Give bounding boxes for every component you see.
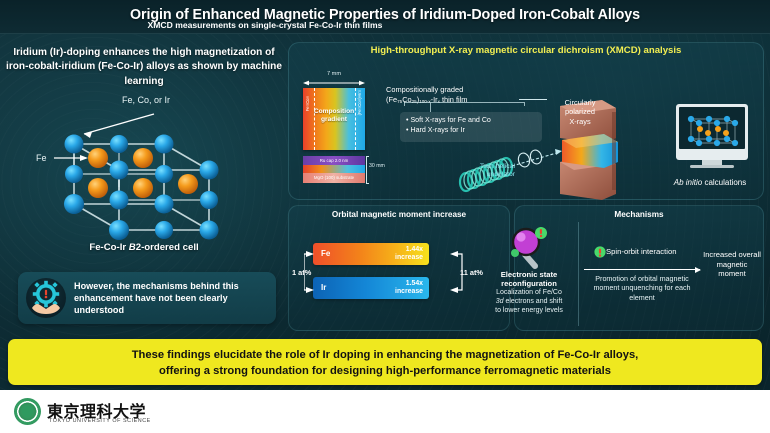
layer-thickness-label: 30 mm [369,163,385,169]
footer: 東京理科大学 TOKYO UNIVERSITY OF SCIENCE Uncov… [0,390,770,433]
gradient-right-composition: (Fe75Co25)89Ir11 [357,90,362,115]
mechanisms-panel-header: Mechanisms [515,210,763,219]
crystal-label-fecoir: Fe, Co, or Ir [122,95,170,105]
lightbulb-icon [594,246,606,260]
magnifying-glass-atom-icon [505,226,559,272]
left-headline: Iridium (Ir)-doping enhances the high ma… [6,46,282,89]
crystal-structure-diagram [12,92,276,242]
beamline-illustration [452,100,642,200]
orbital-brackets [304,249,464,295]
sample-width-ruler [303,74,365,86]
layer-film [303,165,365,173]
crystal-label-fe: Fe [36,153,47,163]
gradient-left-composition: Fe75Co25 [305,96,310,111]
tus-logo-icon [14,398,41,425]
bullet-bracket-left-tick [404,102,405,106]
cp-leader-line [519,99,547,100]
mechanism-step2-title: Spin-orbit interaction [606,247,690,256]
mechanisms-divider [578,222,579,326]
mechanism-flow-arrow [584,269,700,270]
mechanism-step2-body: Promotion of orbital magnetic moment unq… [584,274,700,302]
mechanism-outcome: Increased overall magnetic moment [702,250,762,279]
xmcd-panel-header: High-throughput X-ray magnetic circular … [289,43,763,59]
open-question-text: However, the mechanisms behind this enha… [74,280,270,316]
undulator-label: Twin helicalundulator [463,163,515,180]
open-question-callout: However, the mechanisms behind this enha… [18,272,276,324]
crystal-caption: Fe-Co-Ir B2-ordered cell [6,242,282,253]
monitor-base [690,165,734,168]
infographic-root: Origin of Enhanced Magnetic Properties o… [0,0,770,433]
conclusion-text: These findings elucidate the role of Ir … [8,347,762,379]
composition-gradient-label: Compositiongradient [303,108,365,124]
circular-polarized-xrays-label: CircularlypolarizedX-rays [550,98,610,126]
layer-ru-cap: Ru cap 2.0 nm [303,156,365,165]
conclusion-banner: These findings elucidate the role of Ir … [8,339,762,385]
ab-initio-label: Ab initio calculations [662,178,758,187]
bullet-bracket-stem [430,103,431,112]
mechanism-step1-title: Electronic state reconfiguration [490,270,568,288]
gear-question-in-hands-icon [26,278,66,318]
layer-mgo-substrate: MgO (100) substrate [303,173,365,183]
university-name-en: TOKYO UNIVERSITY OF SCIENCE [49,418,151,424]
orbital-panel-header: Orbital magnetic moment increase [289,210,509,219]
xmcd-subheader: XMCD measurements on single-crystal Fe-C… [100,20,430,30]
monitor-screen [679,107,745,149]
layer-thickness-brace [366,156,369,184]
mechanism-step1-body: Localization of Fe/Co3d electrons and sh… [484,289,574,316]
ab-initio-monitor [676,104,748,160]
